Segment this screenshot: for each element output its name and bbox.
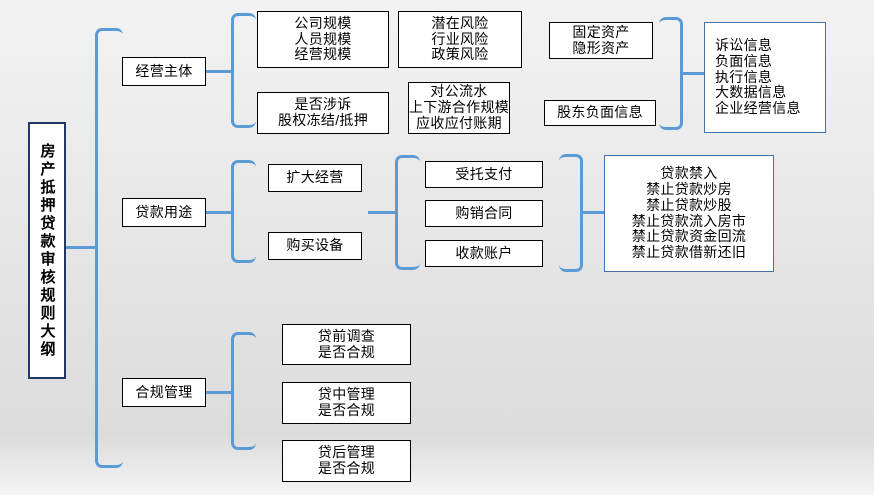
node-litigation-pledge[interactable]: 是否涉诉 股权冻结/抵押 <box>257 92 389 134</box>
bracket-root-to-branches <box>95 28 123 468</box>
node-sales-contract[interactable]: 购销合同 <box>425 200 543 227</box>
lead-loan-purpose <box>206 211 232 214</box>
bracket-loan-purpose-col1 <box>231 160 256 263</box>
node-potential-risk[interactable]: 潜在风险 行业风险 政策风险 <box>398 11 522 68</box>
node-fixed-assets[interactable]: 固定资产 隐形资产 <box>549 22 653 59</box>
bracket-business-entity-col1 <box>231 13 256 128</box>
node-during-loan-management[interactable]: 贷中管理 是否合规 <box>282 382 411 424</box>
node-pre-loan-investigation[interactable]: 贷前调查 是否合规 <box>282 324 411 365</box>
node-entrusted-payment[interactable]: 受托支付 <box>425 161 543 188</box>
branch-label-loan-purpose[interactable]: 贷款用途 <box>122 198 206 227</box>
lead-loan-prohibitions <box>581 211 605 214</box>
lead-loan-purpose-col2 <box>368 211 396 214</box>
branch-label-business-entity[interactable]: 经营主体 <box>122 57 206 86</box>
bracket-loan-purpose-col2 <box>395 155 420 270</box>
node-shareholder-negative[interactable]: 股东负面信息 <box>544 100 656 126</box>
diagram-canvas: 房产抵押贷款审核规则大纲 经营主体 公司规模 人员规模 经营规模 是否涉诉 股权… <box>0 0 874 495</box>
root-node-mortgage-loan-outline: 房产抵押贷款审核规则大纲 <box>28 122 66 379</box>
node-receiving-account[interactable]: 收款账户 <box>425 240 543 267</box>
node-expand-business[interactable]: 扩大经营 <box>268 164 362 192</box>
lead-business-entity <box>206 70 232 73</box>
bracket-entity-info-summary <box>659 17 683 130</box>
bracket-loan-prohibitions <box>559 154 583 272</box>
lead-info-summary <box>681 72 705 75</box>
bracket-compliance <box>231 332 256 450</box>
node-loan-prohibitions[interactable]: 贷款禁入 禁止贷款炒房 禁止贷款炒股 禁止贷款流入房市 禁止贷款资金回流 禁止贷… <box>604 155 774 272</box>
lead-compliance <box>206 391 232 394</box>
node-buy-equipment[interactable]: 购买设备 <box>268 232 362 260</box>
branch-label-compliance[interactable]: 合规管理 <box>122 378 206 407</box>
node-info-summary[interactable]: 诉讼信息 负面信息 执行信息 大数据信息 企业经营信息 <box>704 22 826 133</box>
node-public-cashflow[interactable]: 对公流水 上下游合作规模 应收应付账期 <box>408 82 510 134</box>
node-post-loan-management[interactable]: 贷后管理 是否合规 <box>282 440 411 482</box>
stem-root-to-bracket <box>66 246 97 249</box>
node-company-scale[interactable]: 公司规模 人员规模 经营规模 <box>257 11 389 68</box>
